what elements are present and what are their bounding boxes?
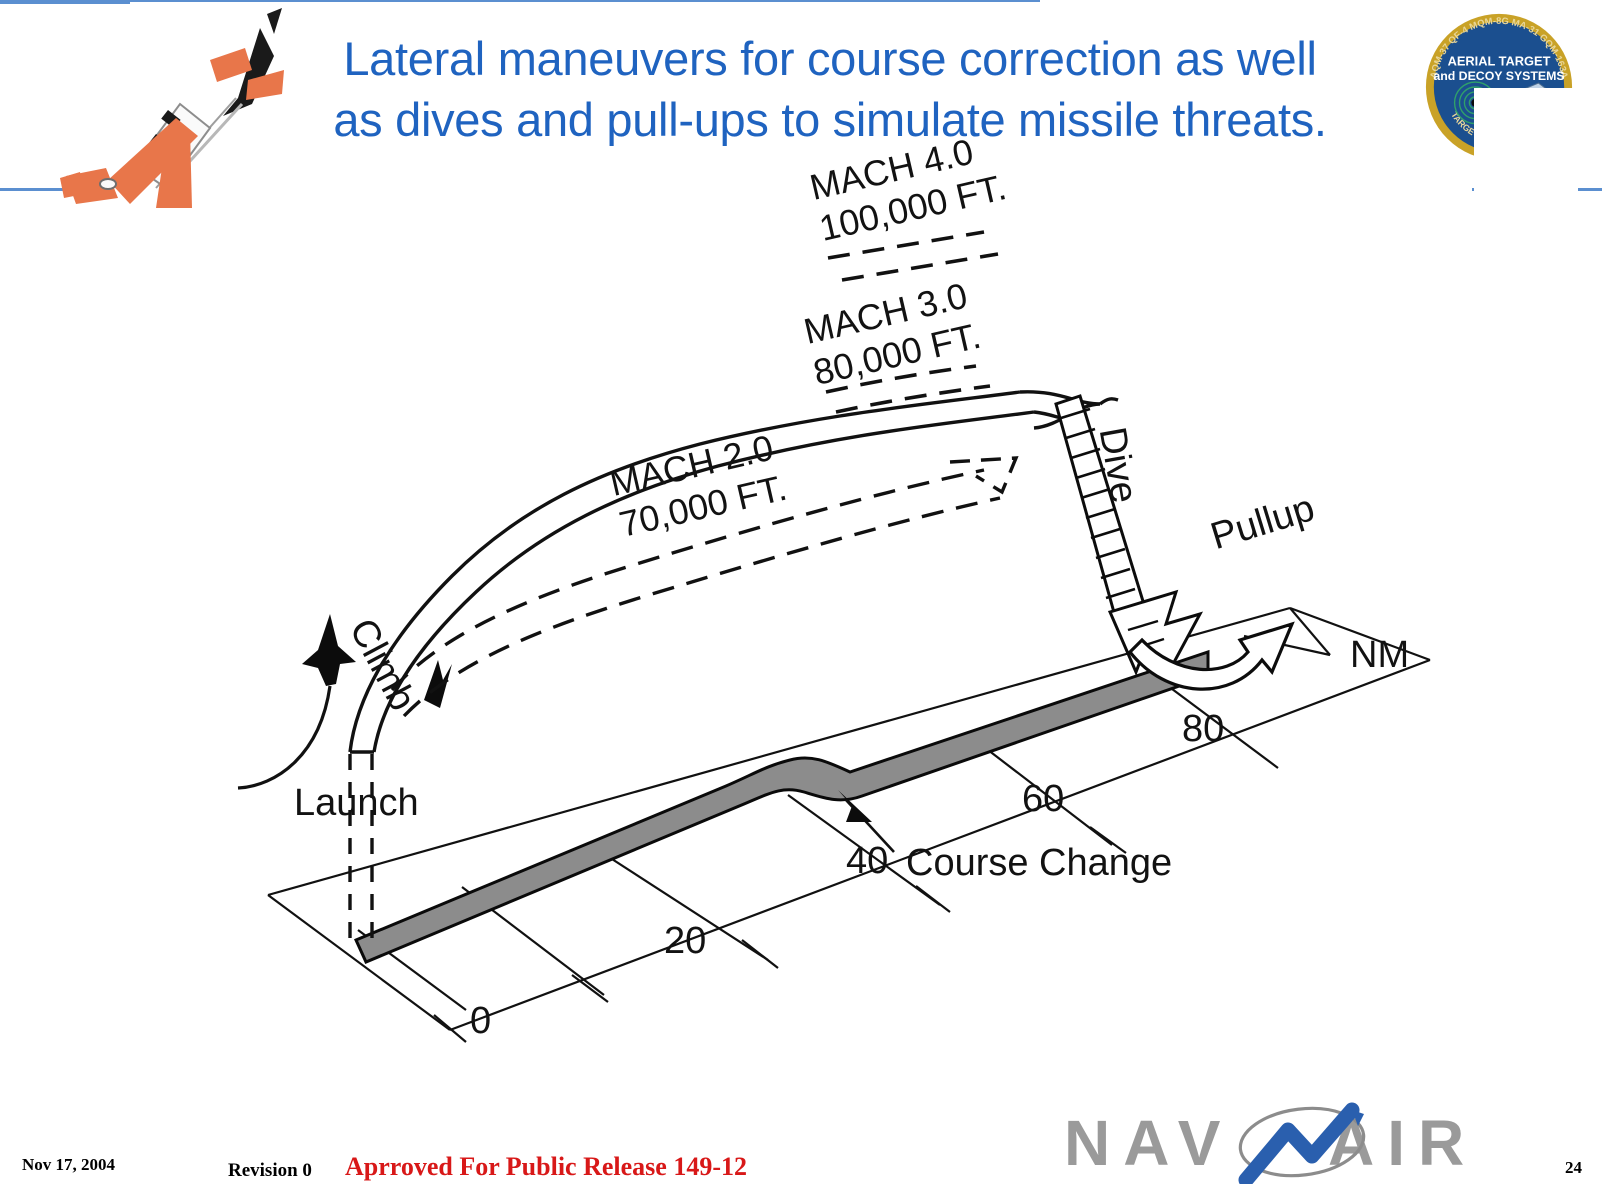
footer-revision: Revision 0 bbox=[228, 1160, 312, 1182]
page-number: 24 bbox=[1565, 1158, 1582, 1178]
label-launch: Launch bbox=[294, 782, 419, 825]
navair-word-left: NAV bbox=[1064, 1106, 1233, 1180]
launch-aircraft-icon bbox=[302, 614, 356, 686]
axis-label-nm: NM bbox=[1350, 634, 1409, 677]
ground-track-band bbox=[356, 652, 1208, 962]
tick-label-20: 20 bbox=[664, 920, 706, 963]
ground-plane-grid bbox=[268, 608, 1430, 1042]
footer-date: Nov 17, 2004 bbox=[22, 1155, 115, 1175]
tick-label-60: 60 bbox=[1022, 778, 1064, 821]
navair-swoosh-icon bbox=[1226, 1100, 1386, 1184]
slide-canvas: Lateral maneuvers for course correction … bbox=[0, 0, 1602, 1198]
tick-label-80: 80 bbox=[1182, 708, 1224, 751]
launch-aircraft-path bbox=[238, 686, 330, 788]
footer-release-statement: Aprroved For Public Release 149-12 bbox=[345, 1152, 747, 1182]
climb-direction-arrow bbox=[424, 660, 452, 708]
navair-logo: NAV AIR bbox=[1060, 1098, 1480, 1184]
label-course-change: Course Change bbox=[906, 842, 1172, 885]
tick-label-0: 0 bbox=[470, 1000, 491, 1043]
tick-label-40: 40 bbox=[846, 840, 888, 883]
flight-profile-diagram bbox=[0, 0, 1602, 1198]
